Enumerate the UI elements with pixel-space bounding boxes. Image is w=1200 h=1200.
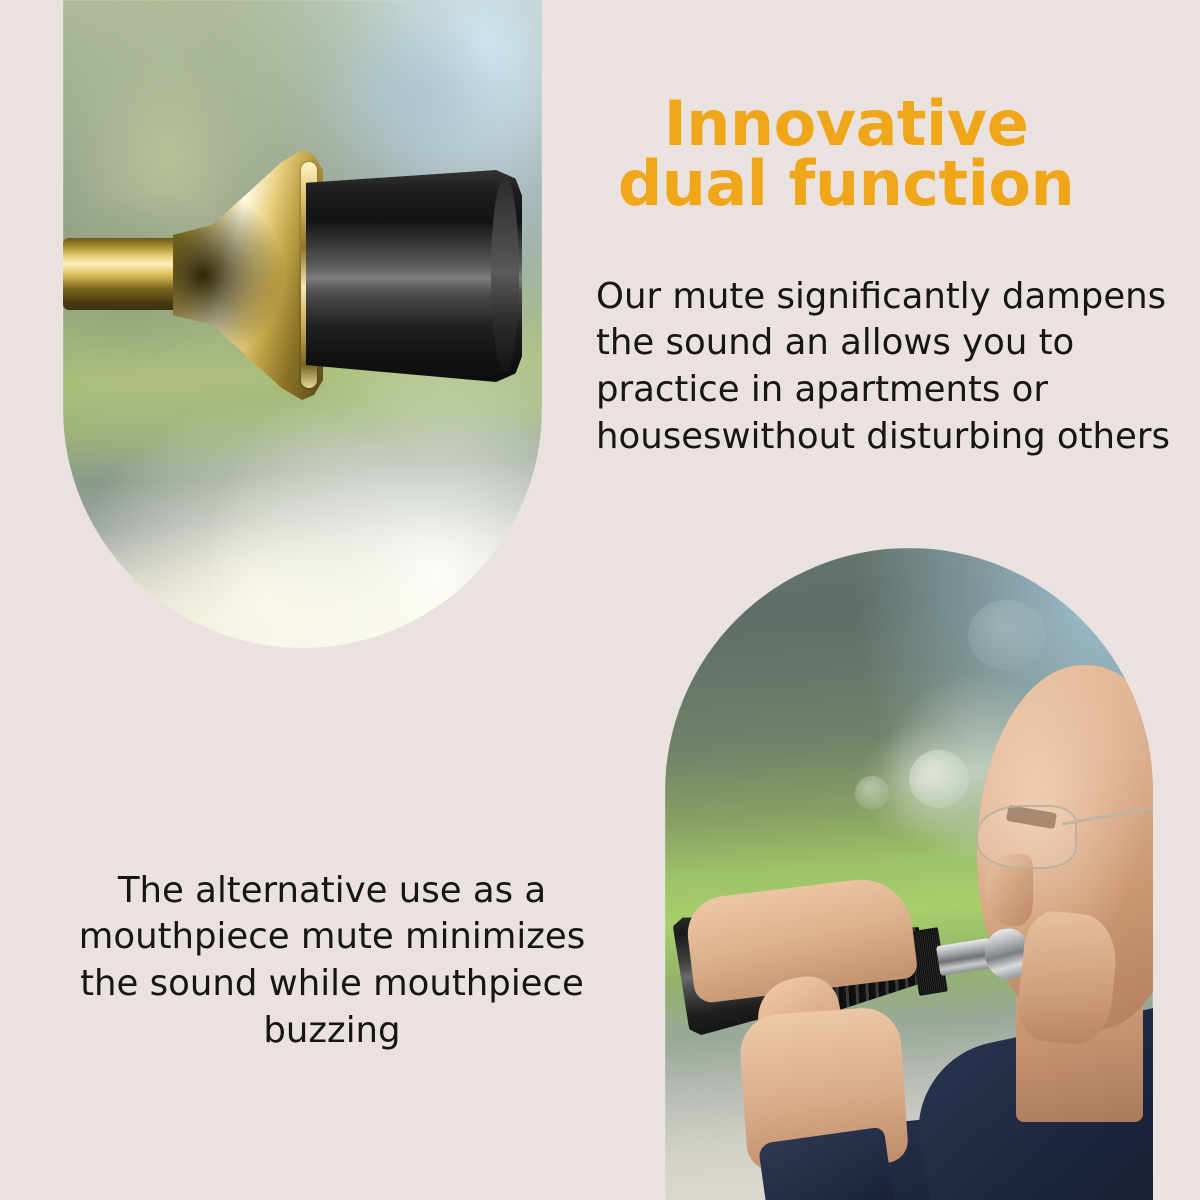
product-feature-card: Innovative dual function Our mute signif… — [0, 0, 1200, 1200]
practice-mute-end-cap — [491, 176, 519, 372]
trumpet-bell-group — [63, 150, 323, 400]
eyeglass-lens — [976, 805, 1076, 869]
man-buzzing-mouthpiece-mute-photo — [665, 548, 1153, 1200]
practice-mute-body — [306, 170, 522, 382]
eyeglass-temple-arm — [1062, 805, 1153, 825]
background-bokeh-sky — [312, 13, 523, 181]
background-bokeh-medium — [909, 750, 969, 808]
feature-description-mouthpiece-buzzing: The alternative use as a mouthpiece mute… — [62, 868, 602, 1055]
man-eyeglasses — [972, 802, 1153, 867]
page-title: Innovative dual function — [600, 94, 1092, 216]
feature-description-mute-dampening: Our mute significantly dampens the sound… — [596, 274, 1186, 461]
trumpet-bell-with-practice-mute-photo — [63, 0, 542, 648]
background-bokeh-large — [968, 600, 1046, 670]
